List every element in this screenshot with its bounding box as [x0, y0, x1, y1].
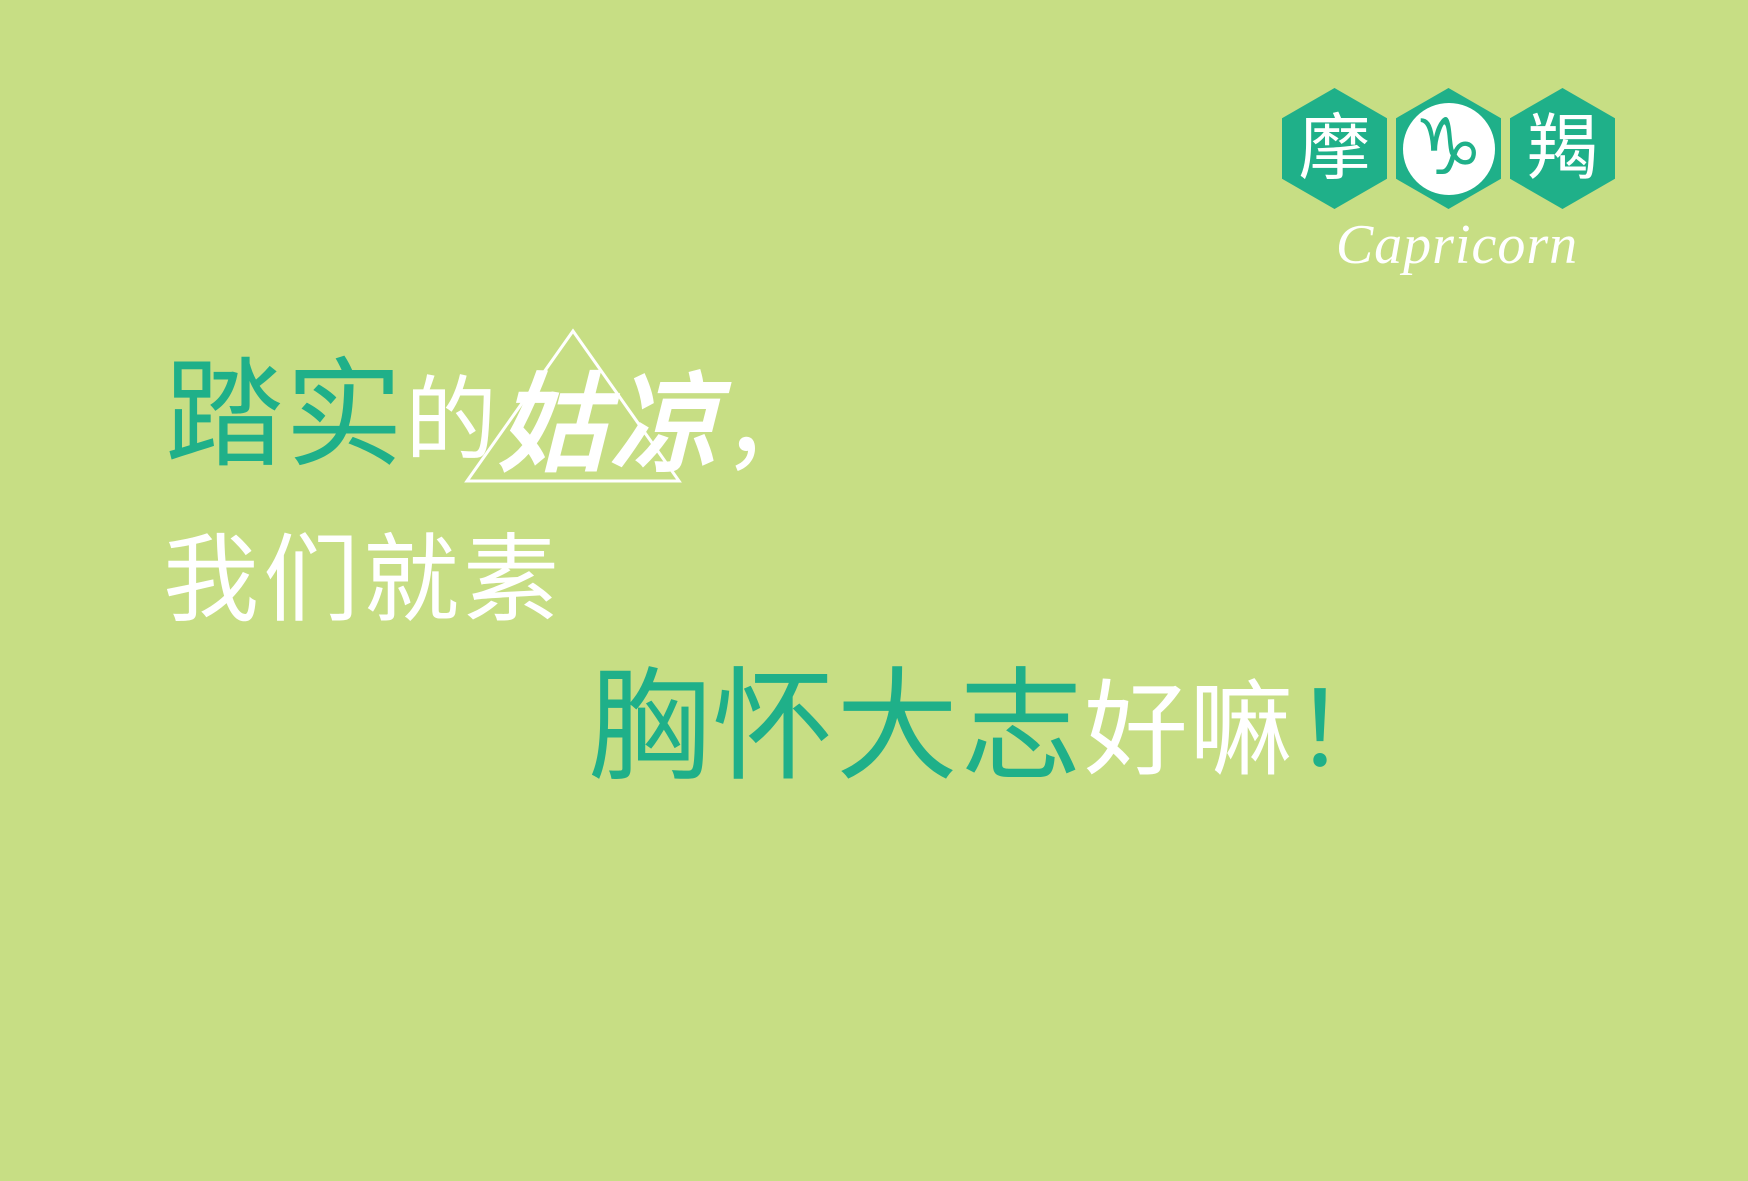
line3-exclamation-mark: ！ — [1294, 679, 1398, 783]
line1-teal-text: 踏实 — [165, 358, 405, 476]
line1-brush-text: 姑凉 — [498, 371, 722, 479]
hexagon-row: 摩 ♑ 羯 — [1282, 88, 1632, 212]
line1-white-text: 的 — [405, 375, 498, 467]
outline-triangle-icon — [462, 326, 684, 486]
hexagon-badge-right: 羯 — [1510, 88, 1615, 209]
line1-brush-comma: ， — [722, 376, 822, 476]
hexagon-badge-middle: ♑ — [1396, 88, 1501, 209]
headline-line-1: 踏实的姑凉， — [165, 358, 822, 476]
zodiac-char-jie: 羯 — [1526, 113, 1598, 185]
line3-teal-text: 胸怀大志 — [588, 668, 1084, 790]
hexagon-badge-left: 摩 — [1282, 88, 1387, 209]
zodiac-char-mo: 摩 — [1298, 113, 1370, 185]
headline-line-3: 胸怀大志好嘛！ — [588, 668, 1398, 790]
line3-white-text: 好嘛 — [1084, 679, 1294, 783]
zodiac-symbol-disc: ♑ — [1403, 103, 1495, 195]
headline-line-2: 我们就素 — [163, 533, 563, 629]
zodiac-caption: Capricorn — [1282, 216, 1632, 275]
zodiac-badge: 摩 ♑ 羯 Capricorn — [1282, 88, 1632, 288]
capricorn-symbol-icon: ♑ — [1414, 109, 1484, 187]
poster-canvas: 摩 ♑ 羯 Capricorn 踏实的姑凉， 我们就素 胸怀大志好 — [0, 0, 1748, 1181]
